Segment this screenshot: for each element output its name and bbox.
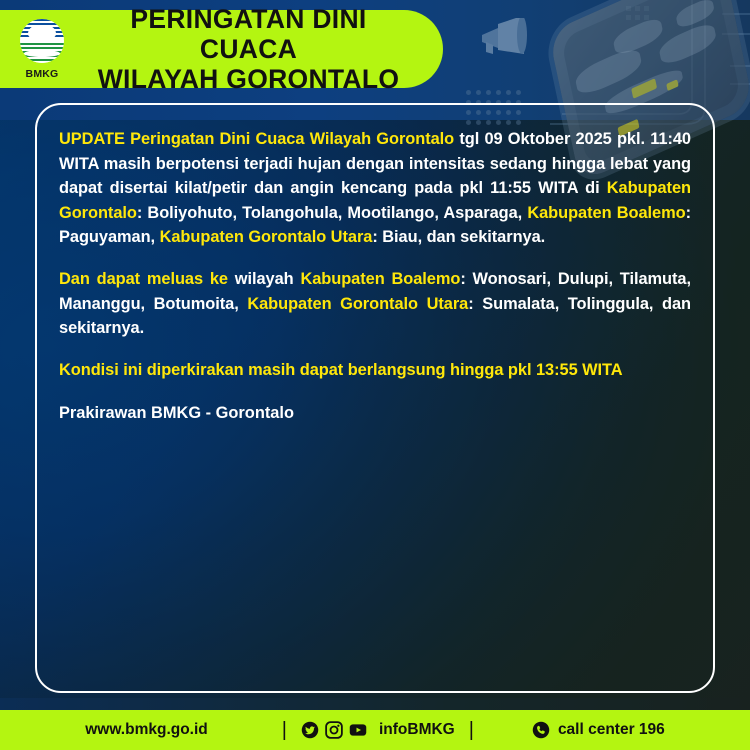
bmkg-logo-caption: BMKG bbox=[14, 68, 70, 80]
poster-canvas: BMKG PERINGATAN DINI CUACA WILAYAH GORON… bbox=[0, 0, 750, 750]
call-center-group[interactable]: call center 196 bbox=[532, 721, 665, 739]
footer-separator-right: | bbox=[469, 719, 474, 742]
youtube-icon[interactable] bbox=[349, 721, 367, 739]
warning-paragraph-3: Kondisi ini diperkirakan masih dapat ber… bbox=[59, 358, 691, 383]
megaphone-icon bbox=[478, 18, 530, 58]
p2-segment-1: Dan dapat meluas ke bbox=[59, 270, 228, 288]
page-title-line-2: WILAYAH GORONTALO bbox=[80, 64, 417, 94]
p2-segment-2: wilayah bbox=[228, 270, 300, 288]
background-footer-strip bbox=[0, 698, 750, 710]
logo-cloud-shape bbox=[28, 26, 56, 38]
page-title: PERINGATAN DINI CUACA WILAYAH GORONTALO bbox=[80, 4, 443, 95]
footer-separator-left: | bbox=[282, 719, 287, 742]
bmkg-logo-icon: BMKG bbox=[14, 19, 70, 79]
call-center-label: call center 196 bbox=[558, 721, 665, 739]
p1-segment-5: Kabupaten Boalemo bbox=[527, 204, 685, 222]
footer-bar: www.bmkg.go.id | infoBMKG | bbox=[0, 710, 750, 750]
social-links-group: infoBMKG bbox=[301, 721, 455, 739]
social-handle-label: infoBMKG bbox=[379, 721, 455, 739]
p2-segment-3: Kabupaten Boalemo bbox=[300, 270, 460, 288]
phone-icon[interactable] bbox=[532, 721, 550, 739]
logo-wave-shape bbox=[24, 50, 60, 57]
p1-segment-4: : Boliyohuto, Tolangohula, Mootilango, A… bbox=[137, 204, 527, 222]
p1-segment-1: UPDATE Peringatan Dini Cuaca Wilayah Gor… bbox=[59, 130, 454, 148]
warning-content-inner: UPDATE Peringatan Dini Cuaca Wilayah Gor… bbox=[37, 105, 713, 423]
website-link[interactable]: www.bmkg.go.id bbox=[85, 721, 208, 739]
warning-paragraph-1: UPDATE Peringatan Dini Cuaca Wilayah Gor… bbox=[59, 127, 691, 250]
forecaster-signature: Prakirawan BMKG - Gorontalo bbox=[59, 404, 691, 423]
twitter-icon[interactable] bbox=[301, 721, 319, 739]
warning-paragraph-2: Dan dapat meluas ke wilayah Kabupaten Bo… bbox=[59, 267, 691, 341]
p2-segment-5: Kabupaten Gorontalo Utara bbox=[247, 295, 468, 313]
warning-content-card: UPDATE Peringatan Dini Cuaca Wilayah Gor… bbox=[35, 103, 715, 693]
page-title-line-1: PERINGATAN DINI CUACA bbox=[80, 4, 417, 64]
header-banner: BMKG PERINGATAN DINI CUACA WILAYAH GORON… bbox=[0, 10, 443, 88]
bmkg-logo-oval bbox=[20, 19, 64, 63]
p1-segment-7: Kabupaten Gorontalo Utara bbox=[160, 228, 373, 246]
p1-segment-8: : Biau, dan sekitarnya. bbox=[372, 228, 545, 246]
instagram-icon[interactable] bbox=[325, 721, 343, 739]
